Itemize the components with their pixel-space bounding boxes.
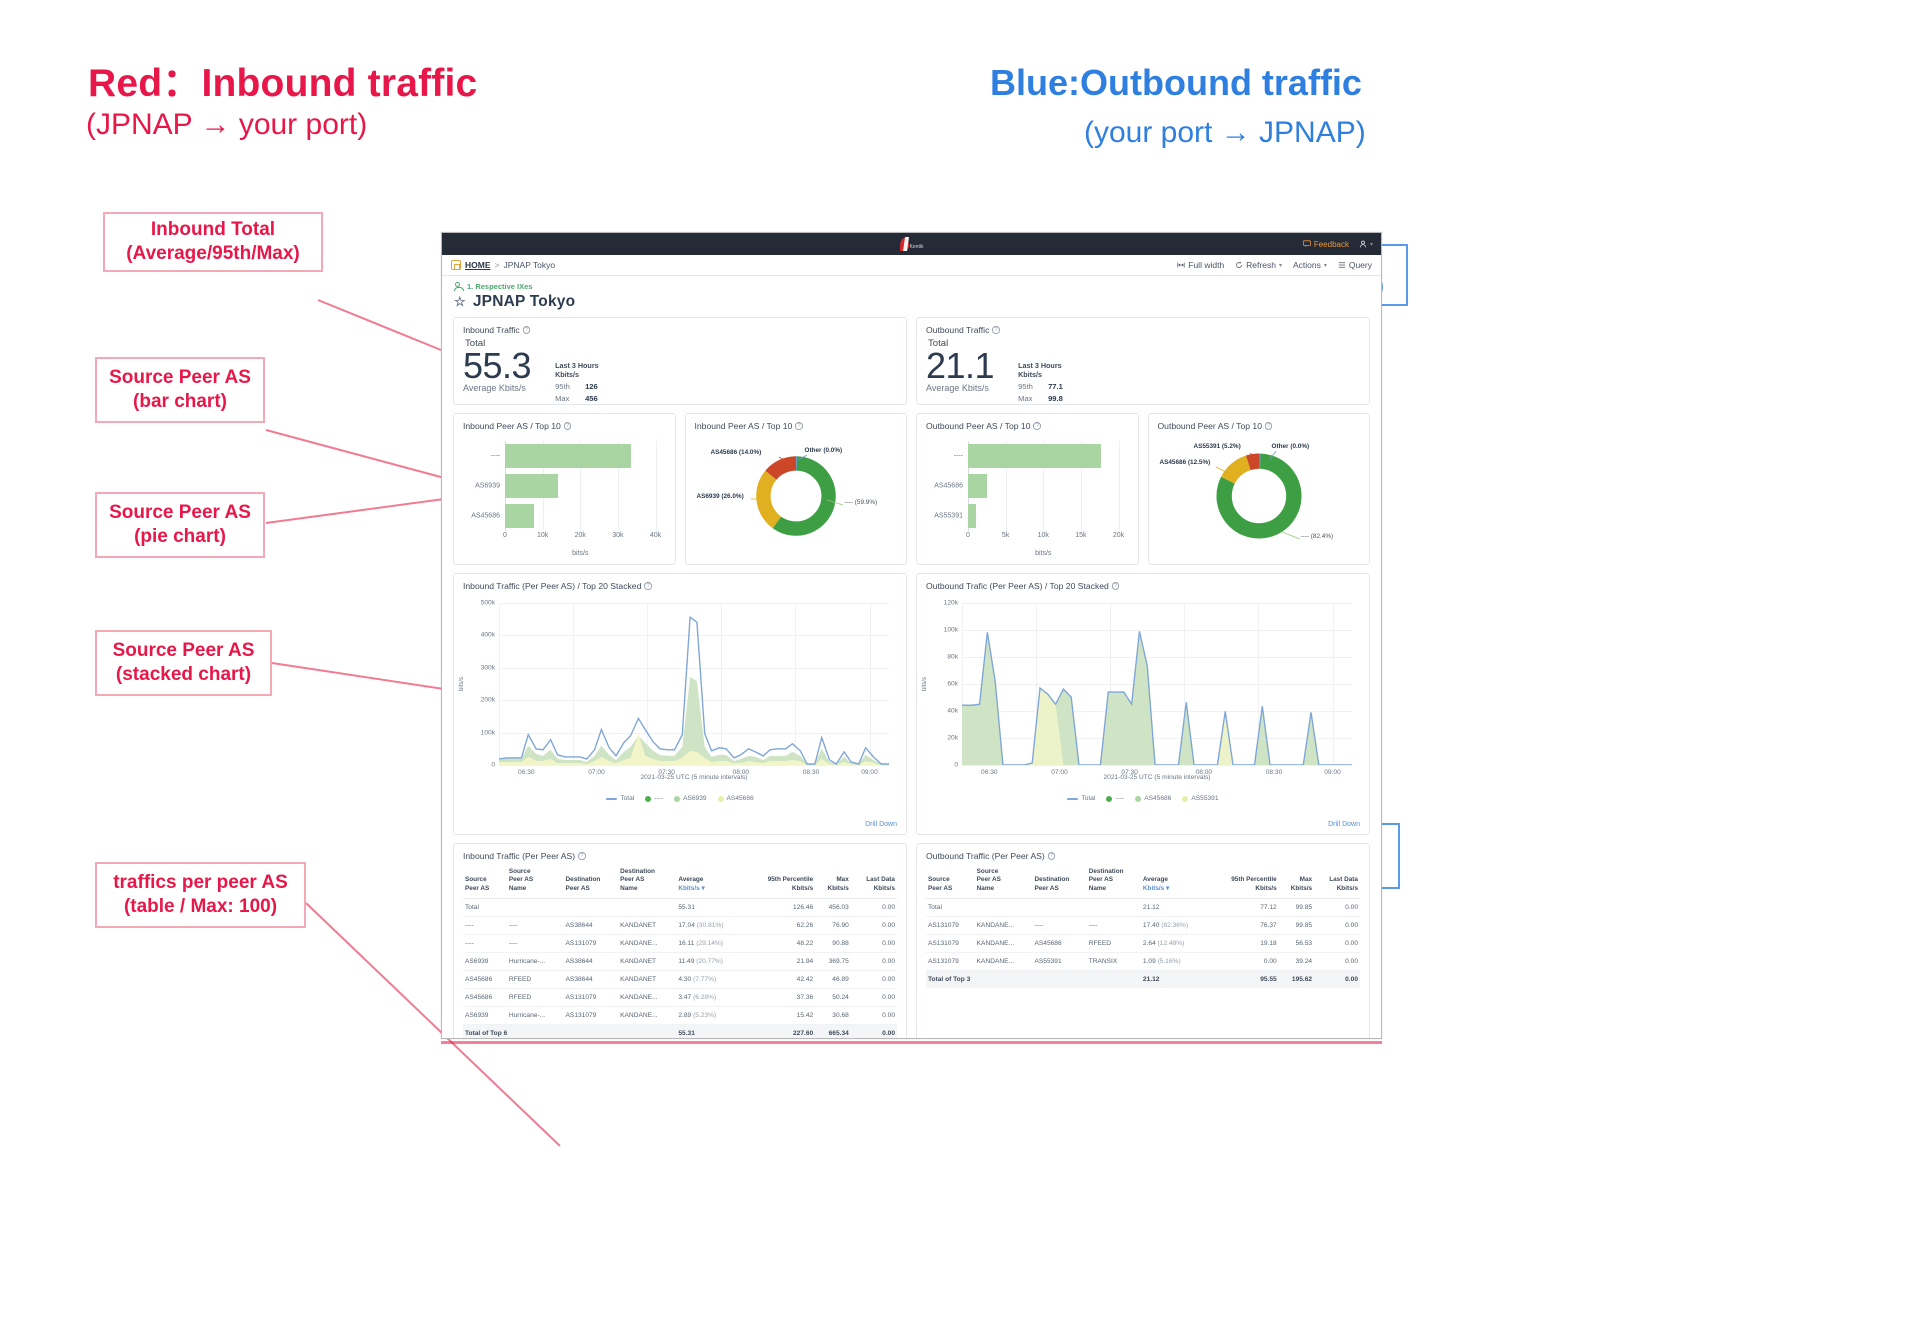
cell-source-as: AS6939: [463, 952, 507, 970]
legend-label: Total: [1081, 795, 1095, 802]
table-row[interactable]: AS6939 Hurricane-... AS38644 KANDANET 11…: [463, 952, 897, 970]
col-line1: Destination: [1089, 868, 1139, 876]
refresh-label: Refresh: [1246, 260, 1276, 270]
outbound-donut-chart[interactable]: Other (0.0%) AS55391 (5.2%) AS45686 (12.…: [1158, 437, 1361, 555]
red-heading: Red：Inbound traffic: [88, 52, 477, 108]
query-list-icon: [1338, 261, 1346, 269]
cell-source-name: KANDANE...: [975, 934, 1033, 952]
cell-dest-name: [618, 898, 676, 916]
app-topbar: Kentik Feedback ▾: [442, 233, 1381, 255]
inbound-stacked-title: Inbound Traffic (Per Peer AS) / Top 20 S…: [463, 581, 897, 591]
avg-percent: (12.48%): [1158, 940, 1185, 947]
feedback-button[interactable]: Feedback: [1303, 240, 1349, 249]
inbound-stats-head2: Kbits/s: [555, 370, 599, 379]
col-line3: Name: [620, 885, 674, 893]
y-tick: 300k: [481, 664, 495, 671]
donut-label-other-as: ---- (82.4%): [1301, 533, 1334, 540]
breadcrumb-separator: >: [495, 260, 500, 270]
inbound-stacked-legend: Total ---- AS6939 AS45686: [463, 795, 897, 802]
user-icon: [1359, 240, 1367, 248]
cell-p95: 48.22: [746, 934, 816, 952]
cell-source-name: [975, 898, 1033, 916]
table-row[interactable]: ---- ---- AS131079 KANDANE... 16.11 (29.…: [463, 934, 897, 952]
avg-value: 4.30: [678, 976, 691, 983]
col-line2: Kbits/s: [748, 885, 814, 893]
donut-label-as6939: AS6939 (26.0%): [697, 493, 744, 500]
help-icon[interactable]: ?: [992, 326, 1000, 334]
inbound-donut-title-text: Inbound Peer AS / Top 10: [695, 421, 793, 431]
cell-max: 30.68: [815, 1006, 851, 1024]
help-icon[interactable]: ?: [1048, 852, 1056, 860]
outbound-p95-value: 77.1: [1048, 382, 1063, 391]
y-tick: 100k: [944, 626, 958, 633]
help-icon[interactable]: ?: [564, 422, 572, 430]
table-row[interactable]: AS45686 RFEED AS38644 KANDANET 4.30 (7.7…: [463, 970, 897, 988]
col-line2: Peer AS: [465, 885, 505, 893]
full-width-icon: [1177, 261, 1185, 269]
x-tick: 20k: [1113, 532, 1124, 539]
cell-source-as: Total: [926, 898, 975, 916]
legend-label: ----: [654, 795, 663, 802]
bar-label: AS6939: [475, 483, 500, 490]
outbound-total-unit: Average Kbits/s: [926, 383, 994, 393]
y-tick: 40k: [947, 707, 958, 714]
legend-dot-swatch: [645, 796, 651, 802]
col-line1: Last Data: [1316, 876, 1358, 884]
cell-dest-name: KANDANET: [618, 916, 676, 934]
cell-dest-as: AS38644: [564, 916, 619, 934]
outbound-max-label: Max: [1018, 394, 1048, 403]
outbound-bar-title: Outbound Peer AS / Top 10 ?: [926, 421, 1129, 431]
inbound-stacked-chart[interactable]: bits/s: [463, 597, 897, 793]
x-tick: 40k: [650, 532, 661, 539]
x-tick: 20k: [575, 532, 586, 539]
inbound-bar-title-text: Inbound Peer AS / Top 10: [463, 421, 561, 431]
col-line2: Kbits/s: [678, 885, 699, 892]
inbound-total-card-title: Inbound Traffic ?: [463, 325, 897, 335]
table-header-row: Source Peer AS Source Peer AS Name Desti…: [463, 865, 897, 898]
callout-source-table: traffics per peer AS (table / Max: 100): [95, 862, 306, 928]
cell-source-name: Hurricane-...: [507, 952, 564, 970]
x-tick: 0: [503, 532, 507, 539]
cell-last: 0.00: [851, 970, 897, 988]
legend-item-as45686[interactable]: AS45686: [1135, 795, 1171, 802]
col-line2: Peer AS: [928, 885, 973, 893]
inbound-max-value: 456: [585, 394, 598, 403]
cell-last: 0.00: [1314, 898, 1360, 916]
inbound-stacked-card: Inbound Traffic (Per Peer AS) / Top 20 S…: [453, 573, 907, 835]
callout-inbound-total: Inbound Total (Average/95th/Max): [103, 212, 323, 272]
people-group-icon: [454, 282, 463, 291]
col-max[interactable]: Max Kbits/s: [815, 865, 851, 898]
col-line1: Destination: [620, 868, 674, 876]
col-line2: Peer AS: [566, 885, 617, 893]
actions-label: Actions: [1293, 260, 1321, 270]
cell-average: 11.49 (20.77%): [676, 952, 745, 970]
outbound-stacked-legend: Total ---- AS45686 AS55391: [926, 795, 1360, 802]
cell-p95: 21.94: [746, 952, 816, 970]
sort-desc-icon[interactable]: ▾: [701, 885, 704, 892]
y-tick: 200k: [481, 697, 495, 704]
table-row[interactable]: Total 21.12 77.12 99.85 0.00: [926, 898, 1360, 916]
outbound-total-stats: Last 3 Hours Kbits/s 95th 77.1 Max 99.8: [1018, 361, 1063, 403]
col-line1: Max: [1281, 876, 1312, 884]
outbound-donut-title: Outbound Peer AS / Top 10 ?: [1158, 421, 1361, 431]
col-95th-percentile[interactable]: 95th Percentile Kbits/s: [746, 865, 816, 898]
avg-value: 11.49: [678, 958, 694, 965]
table-row[interactable]: AS45686 RFEED AS131079 KANDANE... 3.47 (…: [463, 988, 897, 1006]
outbound-total-value: 21.1: [926, 347, 994, 385]
outbound-table-title: Outbound Traffic (Per Peer AS) ?: [926, 851, 1360, 861]
dashboard-window: Kentik Feedback ▾: [441, 232, 1382, 1039]
outbound-stacked-title-text: Outbound Trafic (Per Peer AS) / Top 20 S…: [926, 581, 1109, 591]
y-tick: 0: [491, 762, 495, 769]
inbound-traffic-table: Source Peer AS Source Peer AS Name Desti…: [463, 865, 897, 1039]
dashboard-board: Inbound Traffic ? Total 55.3 Average Kbi…: [442, 313, 1381, 1039]
inbound-table-title: Inbound Traffic (Per Peer AS) ?: [463, 851, 897, 861]
outbound-table-title-text: Outbound Traffic (Per Peer AS): [926, 851, 1045, 861]
bar-row[interactable]: ----: [968, 441, 1119, 471]
cell-source-name: RFEED: [507, 988, 564, 1006]
cell-dest-as: ----: [1032, 916, 1086, 934]
col-line1: Source: [928, 876, 973, 884]
cell-last: 0.00: [1314, 952, 1360, 970]
outbound-donut-title-text: Outbound Peer AS / Top 10: [1158, 421, 1262, 431]
inbound-donut-chart[interactable]: Other (0.0%) AS45686 (14.0%) AS6939 (26.…: [695, 437, 898, 555]
col-source-peer-as-name[interactable]: Source Peer AS Name: [507, 865, 564, 898]
col-last-data[interactable]: Last Data Kbits/s: [1314, 865, 1360, 898]
col-source-peer-as[interactable]: Source Peer AS: [926, 865, 975, 898]
avg-value: 1.09: [1143, 958, 1156, 965]
bar-label: AS45686: [934, 483, 963, 490]
cell-last: 0.00: [851, 952, 897, 970]
cell-dest-name: KANDANE...: [618, 934, 676, 952]
avg-percent: (5.16%): [1158, 958, 1181, 965]
cell-dest-as: AS131079: [564, 934, 619, 952]
cell-average: 17.04 (30.81%): [676, 916, 745, 934]
x-axis-label: bits/s: [505, 550, 656, 557]
cell-max: 39.24: [1279, 952, 1314, 970]
home-icon[interactable]: [451, 260, 461, 270]
col-destination-peer-as[interactable]: Destination Peer AS: [564, 865, 619, 898]
outbound-bar-chart[interactable]: ---- AS45686 AS55391: [926, 439, 1129, 557]
cell-p95: 76.37: [1210, 916, 1279, 934]
cell-last: 0.00: [1314, 934, 1360, 952]
outbound-drill-down-link[interactable]: Drill Down: [1328, 821, 1360, 828]
table-footer-row: Total of Top 3 21.12 95.55 195.62 0.00: [926, 970, 1360, 988]
col-line3: Name: [509, 885, 562, 893]
breadcrumb-home-link[interactable]: HOME: [465, 260, 491, 270]
bar-label: ----: [954, 453, 963, 460]
cell-average: 3.47 (6.28%): [676, 988, 745, 1006]
callout-source-pie-line2: (pie chart): [134, 525, 226, 549]
cell-dest-as: AS38644: [564, 970, 619, 988]
avg-percent: (30.81%): [697, 922, 724, 929]
col-line2: Kbits/s: [1143, 885, 1164, 892]
col-average[interactable]: Average Kbits/s ▾: [676, 865, 745, 898]
cell-p95: 126.46: [746, 898, 816, 916]
table-row[interactable]: ---- ---- AS38644 KANDANET 17.04 (30.81%…: [463, 916, 897, 934]
cell-dest-name: TRANSIX: [1087, 952, 1141, 970]
avg-percent: (5.23%): [693, 1012, 716, 1019]
cell-dest-as: AS45686: [1032, 934, 1086, 952]
col-line1: Max: [817, 876, 849, 884]
page-title-zone: 1. Respective IXes ☆ JPNAP Tokyo: [442, 276, 1381, 313]
inbound-total-unit: Average Kbits/s: [463, 383, 531, 393]
x-tick: 15k: [1075, 532, 1086, 539]
col-line3: Name: [977, 885, 1031, 893]
cell-source-as: AS131079: [926, 916, 975, 934]
table-row[interactable]: AS6939 Hurricane-... AS131079 KANDANE...…: [463, 1006, 897, 1024]
callout-source-bar-line1: Source Peer AS: [109, 366, 251, 390]
cell-dest-as: [564, 898, 619, 916]
col-line2: Kbits/s: [853, 885, 895, 893]
outbound-bar-card: Outbound Peer AS / Top 10 ?: [916, 413, 1139, 565]
cell-dest-name: ----: [1087, 916, 1141, 934]
col-destination-peer-as-name[interactable]: Destination Peer AS Name: [618, 865, 676, 898]
cell-p95: 77.12: [1210, 898, 1279, 916]
outbound-table-card: Outbound Traffic (Per Peer AS) ? Source …: [916, 843, 1370, 1039]
cell-source-name: Hurricane-...: [507, 1006, 564, 1024]
cell-last: 0.00: [851, 988, 897, 1006]
cell-p95: 62.26: [746, 916, 816, 934]
footer-label: Total of Top 6: [463, 1024, 676, 1039]
col-line2: Peer AS: [977, 876, 1031, 884]
outbound-total-card-title: Outbound Traffic ?: [926, 325, 1360, 335]
x-axis-caption: 2021-03-25 UTC (5 minute intervals): [499, 774, 889, 781]
outbound-stats-head2: Kbits/s: [1018, 370, 1063, 379]
inbound-total-title-text: Inbound Traffic: [463, 325, 520, 335]
table-row[interactable]: AS131079 KANDANE... ---- ---- 17.40 (82.…: [926, 916, 1360, 934]
favorite-star-icon[interactable]: ☆: [454, 294, 466, 310]
col-line2: Peer AS: [1089, 876, 1139, 884]
dashboard-underline: [441, 1041, 1382, 1044]
bar-row[interactable]: ----: [505, 441, 656, 471]
y-tick: 400k: [481, 632, 495, 639]
cell-max: 99.85: [1279, 916, 1314, 934]
cell-average: 21.12: [1141, 898, 1210, 916]
cell-max: 99.85: [1279, 898, 1314, 916]
col-max[interactable]: Max Kbits/s: [1279, 865, 1314, 898]
inbound-bar-chart[interactable]: ---- AS6939 AS45686: [463, 439, 666, 557]
y-tick: 0: [954, 762, 958, 769]
cell-average: 4.30 (7.77%): [676, 970, 745, 988]
legend-item-total[interactable]: Total: [606, 795, 634, 802]
outbound-stacked-card: Outbound Trafic (Per Peer AS) / Top 20 S…: [916, 573, 1370, 835]
cell-source-as: AS131079: [926, 934, 975, 952]
col-line2: Peer AS: [509, 876, 562, 884]
chevron-down-icon: ▾: [1370, 241, 1373, 248]
cell-max: 50.24: [815, 988, 851, 1006]
col-line3: Name: [1089, 885, 1139, 893]
outbound-stats-head1: Last 3 Hours: [1018, 361, 1063, 370]
actions-menu[interactable]: Actions ▾: [1293, 260, 1327, 270]
cell-dest-as: AS38644: [564, 952, 619, 970]
chevron-down-icon[interactable]: ▾: [1324, 262, 1327, 269]
cell-dest-name: RFEED: [1087, 934, 1141, 952]
kentik-logo-icon[interactable]: Kentik: [900, 238, 924, 251]
col-line2: Kbits/s: [1316, 885, 1358, 893]
blue-subheading: (your port → JPNAP): [1084, 116, 1366, 150]
table-row[interactable]: AS131079 KANDANE... AS55391 TRANSIX 1.09…: [926, 952, 1360, 970]
query-button[interactable]: Query: [1338, 260, 1372, 270]
col-line1: Average: [678, 876, 743, 884]
cell-last: 0.00: [851, 916, 897, 934]
bar-label: ----: [491, 453, 500, 460]
x-axis-caption: 2021-03-25 UTC (5 minute intervals): [962, 774, 1352, 781]
callout-inbound-total-line1: Inbound Total: [151, 218, 275, 242]
cell-dest-name: KANDANET: [618, 970, 676, 988]
col-line2: Kbits/s: [817, 885, 849, 893]
cell-dest-as: AS131079: [564, 988, 619, 1006]
inbound-bar-card: Inbound Peer AS / Top 10 ? -: [453, 413, 676, 565]
col-source-peer-as[interactable]: Source Peer AS: [463, 865, 507, 898]
callout-inbound-total-line2: (Average/95th/Max): [126, 242, 300, 266]
callout-source-stacked-line2: (stacked chart): [116, 663, 251, 687]
refresh-button[interactable]: Refresh ▾: [1235, 260, 1282, 270]
y-axis-label: bits/s: [922, 677, 928, 691]
table-row[interactable]: AS131079 KANDANE... AS45686 RFEED 2.64 (…: [926, 934, 1360, 952]
cell-last: 0.00: [851, 1006, 897, 1024]
group-label[interactable]: 1. Respective IXes: [454, 282, 1369, 291]
donut-label-other-as: ---- (59.9%): [845, 499, 878, 506]
footer-average: 21.12: [1141, 970, 1210, 988]
col-destination-peer-as[interactable]: Destination Peer AS: [1032, 865, 1086, 898]
breadcrumb-toolbar: HOME > JPNAP Tokyo Full width Refresh ▾: [442, 255, 1381, 276]
outbound-stacked-title: Outbound Trafic (Per Peer AS) / Top 20 S…: [926, 581, 1360, 591]
callout-source-table-line2: (table / Max: 100): [124, 895, 277, 919]
cell-last: 0.00: [851, 934, 897, 952]
avg-value: 17.04: [678, 922, 695, 929]
cell-source-name: ----: [507, 916, 564, 934]
outbound-donut-card: Outbound Peer AS / Top 10 ?: [1148, 413, 1371, 565]
legend-label: AS6939: [683, 795, 706, 802]
help-icon[interactable]: ?: [578, 852, 586, 860]
legend-item-as6939[interactable]: AS6939: [674, 795, 706, 802]
bar-row[interactable]: AS55391: [968, 501, 1119, 531]
col-last-data[interactable]: Last Data Kbits/s: [851, 865, 897, 898]
col-line1: Last Data: [853, 876, 895, 884]
footer-p95: 227.60: [746, 1024, 816, 1039]
inbound-donut-title: Inbound Peer AS / Top 10 ?: [695, 421, 898, 431]
bar-row[interactable]: AS45686: [968, 471, 1119, 501]
col-line1: Source: [509, 868, 562, 876]
bar-label: AS45686: [471, 513, 500, 520]
user-menu[interactable]: ▾: [1359, 240, 1373, 248]
avg-value: 17.40: [1143, 922, 1160, 929]
bar-label: AS55391: [934, 513, 963, 520]
legend-item-total[interactable]: Total: [1067, 795, 1095, 802]
help-icon[interactable]: ?: [1112, 582, 1120, 590]
col-line1: 95th Percentile: [748, 876, 814, 884]
x-tick: 0: [966, 532, 970, 539]
inbound-total-card: Inbound Traffic ? Total 55.3 Average Kbi…: [453, 317, 907, 405]
col-source-peer-as-name[interactable]: Source Peer AS Name: [975, 865, 1033, 898]
col-destination-peer-as-name[interactable]: Destination Peer AS Name: [1087, 865, 1141, 898]
footer-label: Total of Top 3: [926, 970, 1141, 988]
inbound-drill-down-link[interactable]: Drill Down: [865, 821, 897, 828]
cell-average: 17.40 (82.36%): [1141, 916, 1210, 934]
cell-source-name: ----: [507, 934, 564, 952]
footer-p95: 95.55: [1210, 970, 1279, 988]
help-icon[interactable]: ?: [795, 422, 803, 430]
outbound-total-title-text: Outbound Traffic: [926, 325, 989, 335]
legend-item-as45686[interactable]: AS45686: [718, 795, 754, 802]
legend-item-other[interactable]: ----: [645, 795, 663, 802]
y-tick: 60k: [947, 681, 958, 688]
cell-max: 76.90: [815, 916, 851, 934]
table-row[interactable]: Total 55.31 126.46 456.03 0.00: [463, 898, 897, 916]
footer-max: 665.34: [815, 1024, 851, 1039]
inbound-p95-value: 126: [585, 382, 598, 391]
outbound-total-card: Outbound Traffic ? Total 21.1 Average Kb…: [916, 317, 1370, 405]
cell-p95: 15.42: [746, 1006, 816, 1024]
full-width-button[interactable]: Full width: [1177, 260, 1224, 270]
cell-max: 90.88: [815, 934, 851, 952]
outbound-area-svg: [962, 603, 1352, 765]
callout-source-pie: Source Peer AS (pie chart): [95, 492, 265, 558]
callout-source-stacked-line1: Source Peer AS: [113, 639, 255, 663]
cell-average: 1.09 (5.16%): [1141, 952, 1210, 970]
cell-dest-name: KANDANE...: [618, 988, 676, 1006]
cell-source-as: Total: [463, 898, 507, 916]
avg-value: 16.11: [678, 940, 694, 947]
cell-dest-name: KANDANE...: [618, 1006, 676, 1024]
col-average[interactable]: Average Kbits/s ▾: [1141, 865, 1210, 898]
callout-source-table-line1: traffics per peer AS: [113, 871, 288, 895]
chevron-down-icon[interactable]: ▾: [1279, 262, 1282, 269]
footer-average: 55.31: [676, 1024, 745, 1039]
cell-source-as: AS131079: [926, 952, 975, 970]
outbound-stacked-chart[interactable]: bits/s: [926, 597, 1360, 793]
cell-p95: 0.00: [1210, 952, 1279, 970]
help-icon[interactable]: ?: [523, 326, 531, 334]
cell-average: 2.64 (12.48%): [1141, 934, 1210, 952]
full-width-label: Full width: [1188, 260, 1224, 270]
inbound-stats-head1: Last 3 Hours: [555, 361, 599, 370]
col-line1: Source: [465, 876, 505, 884]
y-tick: 500k: [481, 600, 495, 607]
cell-source-as: AS45686: [463, 970, 507, 988]
legend-dot-swatch: [1182, 796, 1188, 802]
legend-label: AS55391: [1191, 795, 1218, 802]
col-95th-percentile[interactable]: 95th Percentile Kbits/s: [1210, 865, 1279, 898]
avg-percent: (29.14%): [696, 940, 723, 947]
sort-desc-icon[interactable]: ▾: [1166, 885, 1169, 892]
page-title: ☆ JPNAP Tokyo: [454, 293, 1369, 311]
inbound-donut-card: Inbound Peer AS / Top 10 ?: [685, 413, 908, 565]
bar-row[interactable]: AS45686: [505, 501, 656, 531]
avg-percent: (6.28%): [693, 994, 716, 1001]
bar-row[interactable]: AS6939: [505, 471, 656, 501]
feedback-label: Feedback: [1314, 240, 1349, 249]
legend-dot-swatch: [1135, 796, 1141, 802]
callout-source-bar-line2: (bar chart): [133, 390, 227, 414]
inbound-area-svg: [499, 603, 889, 765]
help-icon[interactable]: ?: [1265, 422, 1273, 430]
avg-value: 3.47: [678, 994, 691, 1001]
cell-dest-as: AS55391: [1032, 952, 1086, 970]
legend-label: AS45686: [1144, 795, 1171, 802]
legend-item-other[interactable]: ----: [1106, 795, 1124, 802]
help-icon[interactable]: ?: [644, 582, 652, 590]
legend-item-as55391[interactable]: AS55391: [1182, 795, 1218, 802]
avg-value: 2.89: [678, 1012, 691, 1019]
help-icon[interactable]: ?: [1033, 422, 1041, 430]
cell-dest-as: AS131079: [564, 1006, 619, 1024]
avg-percent: (20.77%): [696, 958, 723, 965]
donut-label-other: Other (0.0%): [1272, 443, 1310, 450]
